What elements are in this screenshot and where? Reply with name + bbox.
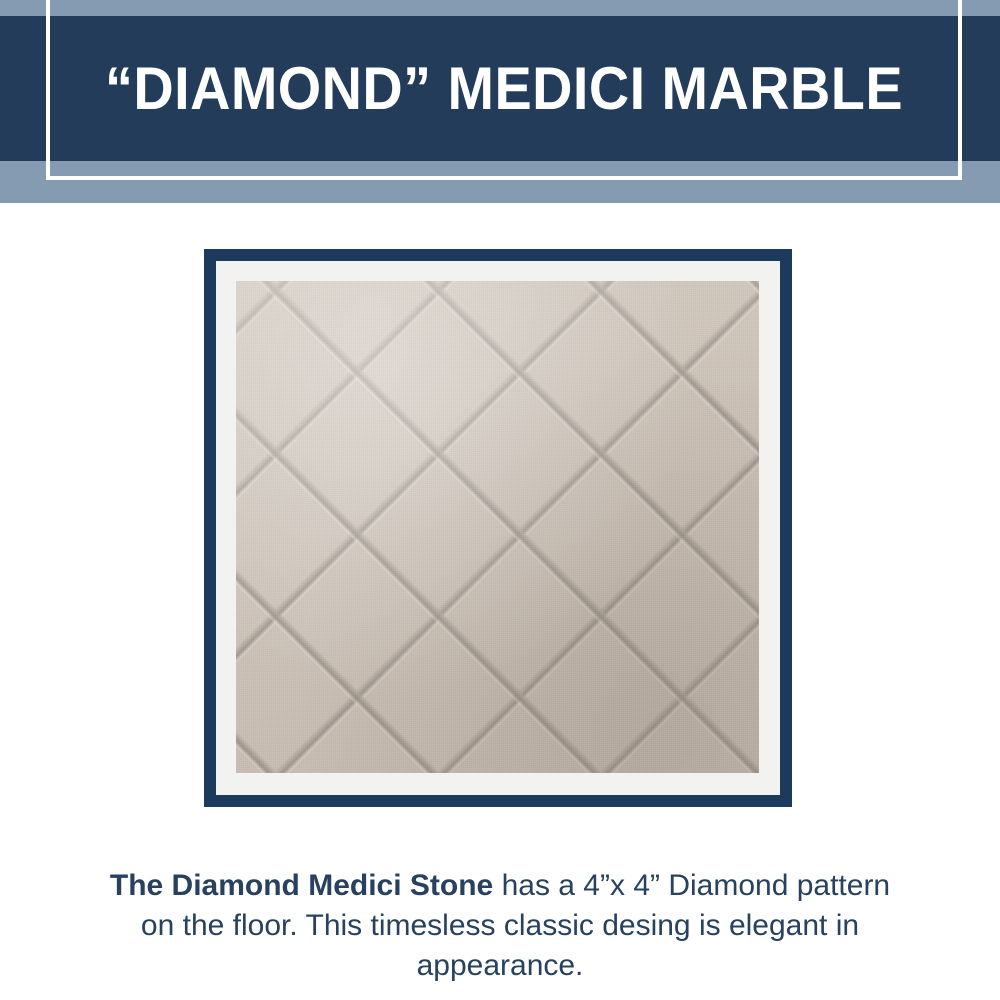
- product-description-lead: The Diamond Medici Stone: [110, 869, 493, 902]
- product-image-frame: [204, 249, 792, 807]
- page-title: “DIAMOND” MEDICI MARBLE: [78, 16, 930, 161]
- image-mat-border: [216, 261, 780, 795]
- photo-texture-overlay: [236, 281, 759, 773]
- product-description: The Diamond Medici Stone has a 4”x 4” Di…: [90, 866, 910, 986]
- slide-canvas: “DIAMOND” MEDICI MARBLE The Diamond Medi…: [0, 0, 1000, 1000]
- tile-floor-photo: [236, 281, 759, 773]
